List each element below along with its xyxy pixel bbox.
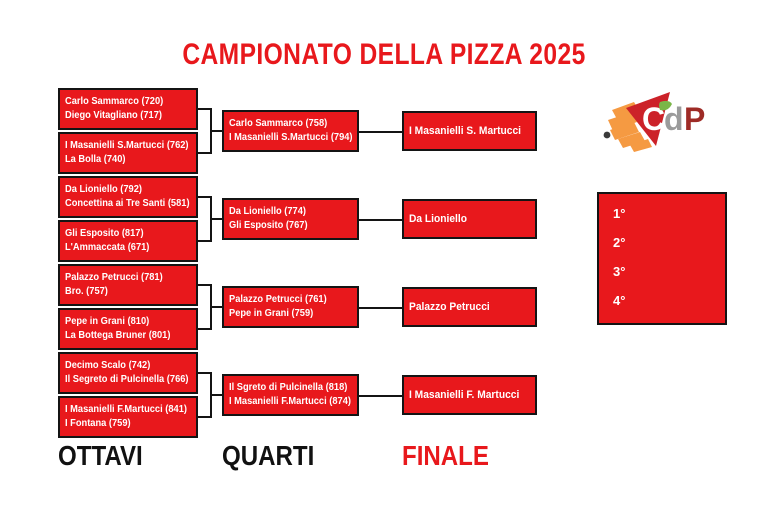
match-box-r16-5[interactable]: Palazzo Petrucci (781) Bro. (757) — [58, 264, 198, 306]
match-box-r16-3[interactable]: Da Lioniello (792) Concettina ai Tre San… — [58, 176, 198, 218]
team-name: I Masanielli F.Martucci (874) — [229, 395, 348, 409]
bracket-connector — [359, 131, 403, 133]
team-name: Il Segreto di Pulcinella (766) — [65, 373, 187, 387]
match-box-r16-7[interactable]: Decimo Scalo (742) Il Segreto di Pulcine… — [58, 352, 198, 394]
cdp-logo: C d P — [600, 88, 720, 154]
match-box-qf-4[interactable]: Il Sgreto di Pulcinella (818) I Masaniel… — [222, 374, 359, 416]
team-name: Pepe in Grani (810) — [65, 315, 187, 329]
team-name: Gli Esposito (767) — [229, 219, 348, 233]
team-name: Carlo Sammarco (720) — [65, 95, 187, 109]
team-name: La Bolla (740) — [65, 153, 187, 167]
team-name: I Masanielli F. Martucci — [409, 388, 526, 403]
podium-place: 2° — [613, 235, 625, 250]
podium-row-2: 2° — [613, 233, 725, 262]
podium-row-4: 4° — [613, 291, 725, 320]
round-label-quarti: QUARTI — [222, 440, 314, 472]
team-name: Palazzo Petrucci (761) — [229, 293, 348, 307]
bracket-connector — [210, 306, 224, 308]
bracket-connector — [210, 394, 224, 396]
bracket-connector — [359, 219, 403, 221]
match-box-qf-2[interactable]: Da Lioniello (774) Gli Esposito (767) — [222, 198, 359, 240]
team-name: Gli Esposito (817) — [65, 227, 187, 241]
page-title: CAMPIONATO DELLA PIZZA 2025 — [69, 38, 699, 72]
match-box-r16-2[interactable]: I Masanielli S.Martucci (762) La Bolla (… — [58, 132, 198, 174]
match-box-r16-1[interactable]: Carlo Sammarco (720) Diego Vitagliano (7… — [58, 88, 198, 130]
team-name: Il Sgreto di Pulcinella (818) — [229, 381, 348, 395]
team-name: Diego Vitagliano (717) — [65, 109, 187, 123]
team-name: Decimo Scalo (742) — [65, 359, 187, 373]
podium-place: 4° — [613, 293, 625, 308]
team-name: Da Lioniello — [409, 212, 526, 227]
match-box-finale-4[interactable]: I Masanielli F. Martucci — [402, 375, 537, 415]
round-label-ottavi: OTTAVI — [58, 440, 143, 472]
team-name: I Fontana (759) — [65, 417, 187, 431]
logo-letter-p: P — [684, 101, 705, 137]
team-name: La Bottega Bruner (801) — [65, 329, 187, 343]
match-box-qf-1[interactable]: Carlo Sammarco (758) I Masanielli S.Mart… — [222, 110, 359, 152]
team-name: I Masanielli F.Martucci (841) — [65, 403, 187, 417]
match-box-r16-4[interactable]: Gli Esposito (817) L'Ammaccata (671) — [58, 220, 198, 262]
bracket-connector — [359, 395, 403, 397]
team-name: Concettina ai Tre Santi (581) — [65, 197, 187, 211]
team-name: I Masanielli S. Martucci — [409, 124, 526, 139]
match-box-finale-3[interactable]: Palazzo Petrucci — [402, 287, 537, 327]
podium-panel: 1° 2° 3° 4° — [597, 192, 727, 325]
bracket-connector — [359, 307, 403, 309]
team-name: Carlo Sammarco (758) — [229, 117, 348, 131]
podium-place: 3° — [613, 264, 625, 279]
round-label-finale: FINALE — [402, 440, 489, 472]
team-name: L'Ammaccata (671) — [65, 241, 187, 255]
team-name: Pepe in Grani (759) — [229, 307, 348, 321]
bracket-connector — [210, 130, 224, 132]
podium-row-3: 3° — [613, 262, 725, 291]
team-name: I Masanielli S.Martucci (794) — [229, 131, 348, 145]
team-name: Palazzo Petrucci — [409, 300, 526, 315]
podium-row-1: 1° — [613, 204, 725, 233]
match-box-r16-6[interactable]: Pepe in Grani (810) La Bottega Bruner (8… — [58, 308, 198, 350]
team-name: Da Lioniello (774) — [229, 205, 348, 219]
team-name: Palazzo Petrucci (781) — [65, 271, 187, 285]
bracket-connector — [210, 218, 224, 220]
match-box-r16-8[interactable]: I Masanielli F.Martucci (841) I Fontana … — [58, 396, 198, 438]
match-box-finale-2[interactable]: Da Lioniello — [402, 199, 537, 239]
match-box-finale-1[interactable]: I Masanielli S. Martucci — [402, 111, 537, 151]
match-box-qf-3[interactable]: Palazzo Petrucci (761) Pepe in Grani (75… — [222, 286, 359, 328]
team-name: Da Lioniello (792) — [65, 183, 187, 197]
team-name: I Masanielli S.Martucci (762) — [65, 139, 187, 153]
podium-place: 1° — [613, 206, 625, 221]
team-name: Bro. (757) — [65, 285, 187, 299]
